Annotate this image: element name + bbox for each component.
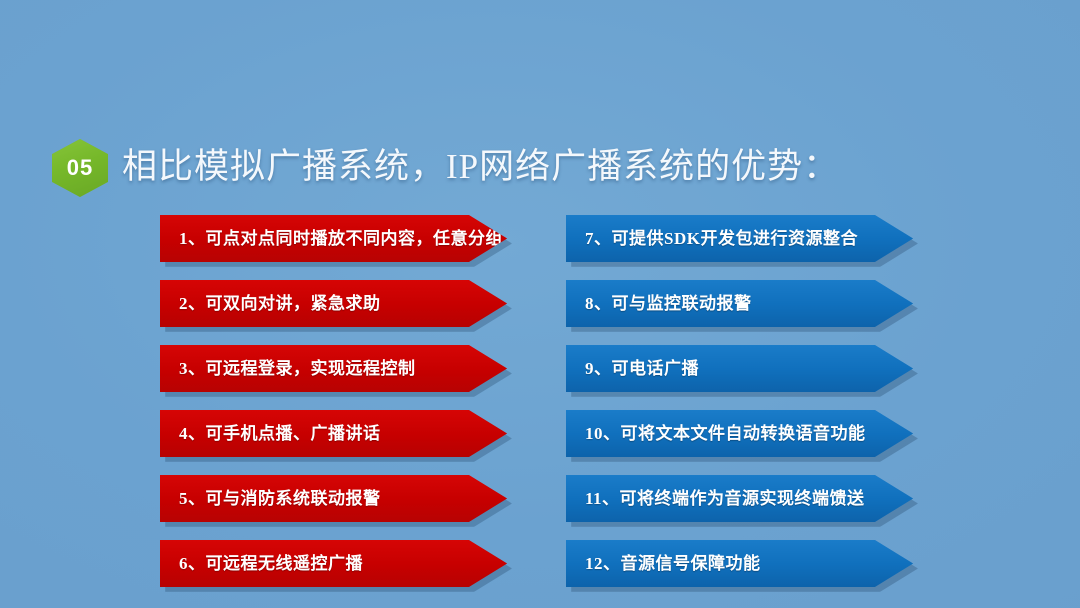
list-item[interactable]: 6、可远程无线遥控广播 bbox=[160, 540, 510, 605]
arrow-label: 2、可双向对讲，紧急求助 bbox=[179, 295, 381, 312]
arrow-label: 4、可手机点播、广播讲话 bbox=[179, 425, 381, 442]
list-item[interactable]: 4、可手机点播、广播讲话 bbox=[160, 410, 510, 475]
section-number-label: 05 bbox=[67, 157, 93, 179]
arrow-label: 9、可电话广播 bbox=[585, 360, 699, 377]
arrow-label: 5、可与消防系统联动报警 bbox=[179, 490, 381, 507]
arrow-label: 1、可点对点同时播放不同内容，任意分组 bbox=[179, 230, 503, 247]
list-item[interactable]: 12、音源信号保障功能 bbox=[566, 540, 916, 605]
arrow-chevron-blue[interactable]: 12、音源信号保障功能 bbox=[566, 540, 913, 587]
arrow-chevron-red[interactable]: 2、可双向对讲，紧急求助 bbox=[160, 280, 507, 327]
arrow-chevron-red[interactable]: 5、可与消防系统联动报警 bbox=[160, 475, 507, 522]
arrow-chevron-blue[interactable]: 10、可将文本文件自动转换语音功能 bbox=[566, 410, 913, 457]
slide-title-row: 05 相比模拟广播系统，IP网络广播系统的优势： bbox=[52, 139, 839, 197]
page-title: 相比模拟广播系统，IP网络广播系统的优势： bbox=[122, 149, 839, 187]
list-item[interactable]: 5、可与消防系统联动报警 bbox=[160, 475, 510, 540]
right-arrow-column: 7、可提供SDK开发包进行资源整合 8、可与监控联动报警 9、可电话广播 10、… bbox=[566, 215, 916, 605]
arrow-label: 10、可将文本文件自动转换语音功能 bbox=[585, 425, 866, 442]
arrow-label: 12、音源信号保障功能 bbox=[585, 555, 761, 572]
list-item[interactable]: 7、可提供SDK开发包进行资源整合 bbox=[566, 215, 916, 280]
arrow-chevron-red[interactable]: 1、可点对点同时播放不同内容，任意分组 bbox=[160, 215, 507, 262]
arrow-chevron-blue[interactable]: 7、可提供SDK开发包进行资源整合 bbox=[566, 215, 913, 262]
left-arrow-column: 1、可点对点同时播放不同内容，任意分组 2、可双向对讲，紧急求助 3、可远程登录… bbox=[160, 215, 510, 605]
arrow-chevron-blue[interactable]: 11、可将终端作为音源实现终端馈送 bbox=[566, 475, 913, 522]
arrow-chevron-red[interactable]: 6、可远程无线遥控广播 bbox=[160, 540, 507, 587]
arrow-chevron-blue[interactable]: 8、可与监控联动报警 bbox=[566, 280, 913, 327]
slide-canvas: 05 相比模拟广播系统，IP网络广播系统的优势： 1、可点对点同时播放不同内容，… bbox=[0, 0, 1080, 608]
list-item[interactable]: 11、可将终端作为音源实现终端馈送 bbox=[566, 475, 916, 540]
list-item[interactable]: 2、可双向对讲，紧急求助 bbox=[160, 280, 510, 345]
arrow-label: 6、可远程无线遥控广播 bbox=[179, 555, 363, 572]
list-item[interactable]: 8、可与监控联动报警 bbox=[566, 280, 916, 345]
list-item[interactable]: 9、可电话广播 bbox=[566, 345, 916, 410]
arrow-chevron-blue[interactable]: 9、可电话广播 bbox=[566, 345, 913, 392]
list-item[interactable]: 1、可点对点同时播放不同内容，任意分组 bbox=[160, 215, 510, 280]
arrow-label: 7、可提供SDK开发包进行资源整合 bbox=[585, 230, 858, 247]
arrow-label: 3、可远程登录，实现远程控制 bbox=[179, 360, 416, 377]
section-number-badge: 05 bbox=[52, 139, 108, 197]
list-item[interactable]: 10、可将文本文件自动转换语音功能 bbox=[566, 410, 916, 475]
list-item[interactable]: 3、可远程登录，实现远程控制 bbox=[160, 345, 510, 410]
arrow-label: 11、可将终端作为音源实现终端馈送 bbox=[585, 490, 865, 507]
arrow-chevron-red[interactable]: 3、可远程登录，实现远程控制 bbox=[160, 345, 507, 392]
arrow-chevron-red[interactable]: 4、可手机点播、广播讲话 bbox=[160, 410, 507, 457]
arrow-label: 8、可与监控联动报警 bbox=[585, 295, 752, 312]
